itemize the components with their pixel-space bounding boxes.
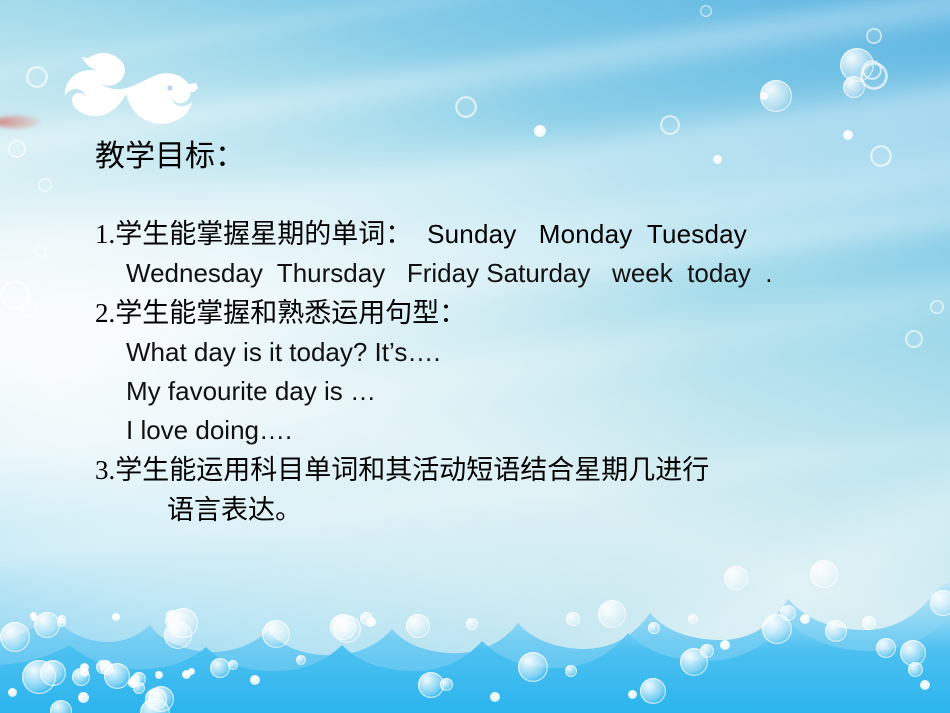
dove-icon	[62, 40, 202, 145]
objective-item-1: 1.学生能掌握星期的单词： Sunday Monday Tuesday Wedn…	[95, 214, 925, 293]
bubble-icon	[50, 700, 72, 713]
bubble-icon	[166, 610, 178, 622]
bubble-icon	[72, 668, 90, 686]
bubble-icon	[518, 652, 548, 682]
bubble-icon	[8, 688, 17, 697]
bubble-icon	[713, 155, 722, 164]
bubble-icon	[26, 66, 48, 88]
bubble-icon	[920, 680, 930, 690]
objective-3-number: 3.	[95, 455, 115, 485]
bubble-icon	[228, 660, 238, 670]
bubble-icon	[100, 662, 113, 675]
objective-2-line-2: What day is it today? It’s….	[95, 333, 925, 372]
bubble-icon	[648, 622, 660, 634]
bubble-icon	[57, 618, 66, 627]
bubble-icon	[418, 672, 444, 698]
bubble-icon	[908, 662, 923, 677]
bubble-icon	[168, 608, 198, 638]
objective-1-line-1: 1.学生能掌握星期的单词： Sunday Monday Tuesday	[95, 214, 925, 254]
bubble-icon	[440, 678, 453, 691]
objective-item-3: 3.学生能运用科目单词和其活动短语结合星期几进行 语言表达。	[95, 450, 925, 530]
bubble-icon	[900, 640, 926, 666]
bubble-icon	[133, 682, 145, 694]
objective-3-cjk-text: 学生能运用科目单词和其活动短语结合星期几进行	[115, 455, 709, 485]
bubble-icon	[366, 617, 376, 627]
bubble-icon	[930, 300, 944, 314]
bubble-icon	[843, 130, 853, 140]
bubble-icon	[31, 615, 37, 621]
bubble-icon	[598, 600, 626, 628]
bubble-icon	[930, 590, 950, 616]
bubble-icon	[80, 668, 89, 677]
bubble-icon	[38, 178, 52, 192]
bubble-icon	[0, 280, 30, 310]
bubble-icon	[155, 671, 163, 679]
bubble-icon	[840, 48, 874, 82]
bubble-icon	[406, 614, 430, 638]
objective-2-cjk-text: 学生能掌握和熟悉运用句型：	[115, 298, 466, 328]
objective-3-line-1: 3.学生能运用科目单词和其活动短语结合星期几进行	[95, 450, 925, 490]
bubble-icon	[296, 655, 306, 665]
objective-2-line-1: 2.学生能掌握和熟悉运用句型：	[95, 293, 925, 333]
bubble-icon	[688, 614, 698, 624]
bubble-icon	[22, 660, 56, 694]
bubble-icon	[534, 125, 546, 137]
bubble-icon	[700, 5, 712, 17]
objective-2-number: 2.	[95, 298, 115, 328]
bubble-icon	[164, 621, 192, 649]
bubble-icon	[330, 614, 356, 640]
bubble-icon	[80, 663, 89, 672]
bubble-icon	[34, 612, 60, 638]
bubble-icon	[825, 620, 847, 642]
bubble-icon	[862, 60, 882, 80]
bubble-icon	[128, 678, 138, 688]
bubble-icon	[58, 615, 66, 623]
bubble-icon	[333, 615, 361, 643]
bubble-icon	[762, 614, 792, 644]
bubble-icon	[20, 300, 38, 318]
bubble-icon	[250, 675, 260, 685]
objective-1-line-2: Wednesday Thursday Friday Saturday week …	[95, 254, 925, 293]
bubble-icon	[628, 690, 637, 699]
bubble-icon	[132, 672, 146, 686]
bubble-icon	[100, 660, 112, 672]
objective-item-2: 2.学生能掌握和熟悉运用句型： What day is it today? It…	[95, 293, 925, 450]
objective-1-cjk-text: 学生能掌握星期的单词：	[115, 219, 412, 249]
bubble-icon	[860, 62, 888, 90]
bubble-icon	[490, 692, 500, 702]
bubble-icon	[700, 644, 714, 658]
bubble-icon	[182, 670, 191, 679]
objective-1-latin-text: Sunday Monday Tuesday	[412, 219, 747, 249]
bubble-icon	[466, 618, 478, 630]
wave-icon	[0, 533, 950, 713]
bubble-icon	[455, 96, 477, 118]
bubble-icon	[760, 80, 792, 112]
objective-1-number: 1.	[95, 219, 115, 249]
bubble-icon	[810, 560, 838, 588]
bubble-icon	[660, 115, 680, 135]
bubble-icon	[188, 668, 195, 675]
bubble-icon	[148, 686, 174, 712]
bubble-icon	[104, 663, 130, 689]
bubble-icon	[8, 140, 26, 158]
bubble-icon	[876, 638, 896, 658]
bubble-icon	[760, 92, 768, 100]
bubble-icon	[210, 658, 230, 678]
bubble-icon	[30, 612, 37, 619]
bubble-icon	[30, 613, 36, 619]
bubble-icon	[145, 688, 167, 710]
presentation-slide: 教学目标： 1.学生能掌握星期的单词： Sunday Monday Tuesda…	[0, 0, 950, 713]
objective-2-line-3: My favourite day is …	[95, 372, 925, 411]
red-accent-mark	[0, 116, 40, 128]
bubble-icon	[565, 665, 577, 677]
bubble-icon	[78, 692, 89, 703]
objective-3-line-2: 语言表达。	[95, 490, 925, 530]
bubble-icon	[640, 678, 666, 704]
bubble-icon	[0, 622, 30, 652]
bubble-icon	[112, 613, 120, 621]
bubble-icon	[843, 76, 865, 98]
bubble-icon	[35, 245, 47, 257]
bubble-icon	[566, 612, 580, 626]
bubble-icon	[140, 698, 170, 713]
bubble-icon	[40, 660, 66, 686]
bubble-icon	[165, 615, 177, 627]
bubble-icon	[262, 620, 290, 648]
bubble-icon	[720, 640, 730, 650]
light-ray-icon	[0, 0, 950, 122]
page-title: 教学目标：	[95, 140, 245, 174]
bubble-icon	[360, 612, 373, 625]
objective-2-line-4: I love doing….	[95, 411, 925, 450]
bubble-icon	[866, 28, 882, 44]
bubble-icon	[680, 648, 708, 676]
bubble-icon	[780, 605, 796, 621]
bubble-icon	[130, 675, 140, 685]
bubble-icon	[862, 616, 876, 630]
objectives-list: 1.学生能掌握星期的单词： Sunday Monday Tuesday Wedn…	[95, 214, 925, 530]
bubble-icon	[800, 614, 810, 624]
bubble-icon	[870, 145, 892, 167]
bubble-icon	[724, 566, 748, 590]
bubble-icon	[96, 660, 110, 674]
